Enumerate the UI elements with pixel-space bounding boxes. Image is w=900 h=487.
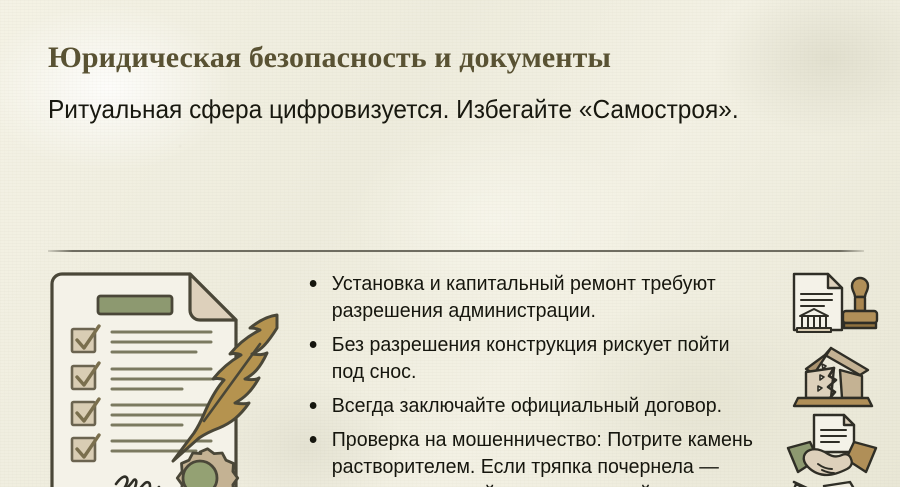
bullet-dot-icon (310, 341, 317, 348)
icon-rail (784, 264, 896, 487)
bullet-dot-icon (310, 436, 317, 443)
demolished-house-icon (784, 342, 880, 412)
page-subtitle: Ритуальная сфера цифровизуется. Избегайт… (48, 94, 815, 124)
heading-block: Юридическая безопасность и документы Рит… (48, 40, 864, 124)
list-item: Установка и капитальный ремонт требуют р… (305, 270, 754, 324)
list-item: Проверка на мошенничество: Потрите камен… (305, 426, 754, 487)
advice-bullet-list: Установка и капитальный ремонт требуют р… (305, 270, 775, 487)
list-item: Всегда заключайте официальный договор. (305, 392, 754, 419)
body-area: Установка и капитальный ремонт требуют р… (0, 264, 900, 487)
header-divider (48, 250, 864, 252)
list-item-text: Всегда заключайте официальный договор. (332, 394, 722, 417)
list-item-text: Без разрешения конструкция рискует пойти… (332, 333, 730, 383)
solvent-test-stone-icon (784, 480, 880, 487)
list-item-text: Проверка на мошенничество: Потрите камен… (332, 428, 753, 487)
bullet-dot-icon (310, 402, 317, 409)
handshake-contract-icon (784, 412, 880, 482)
signed-contract-document-illustration (44, 266, 294, 487)
list-item-text: Установка и капитальный ремонт требуют р… (332, 272, 716, 322)
page-title: Юридическая безопасность и документы (48, 40, 864, 76)
bullet-dot-icon (310, 280, 317, 287)
list-item: Без разрешения конструкция рискует пойти… (305, 331, 754, 385)
permit-document-stamp-icon (784, 268, 880, 338)
infographic-slide: Юридическая безопасность и документы Рит… (0, 0, 900, 487)
